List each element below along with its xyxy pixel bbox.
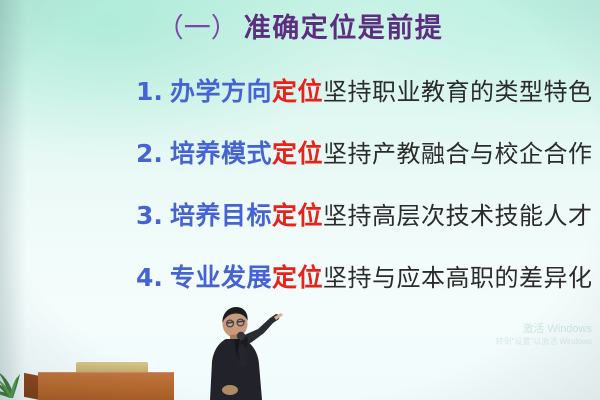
bullet-item-3: 3.培养目标定位坚持高层次技术技能人才 [0, 196, 600, 258]
bullet-number: 2. [136, 139, 170, 168]
bullet-accent-phrase: 定位 [272, 196, 323, 232]
bullet-accent-phrase: 定位 [272, 134, 323, 170]
plant-foliage-svg [0, 352, 46, 400]
slide-title-text: 准确定位是前提 [244, 13, 444, 44]
bullet-key-phrase: 专业发展 [170, 258, 272, 294]
slide-title: （一）准确定位是前提 [0, 6, 600, 45]
bullet-key-phrase: 培养目标 [170, 196, 272, 232]
bullet-accent-phrase: 定位 [272, 72, 323, 108]
presenter-figure [196, 306, 306, 400]
projected-slide-photo: （一）准确定位是前提 1.办学方向定位坚持职业教育的类型特色 2.培养模式定位坚… [0, 0, 600, 400]
slide-bullet-list: 1.办学方向定位坚持职业教育的类型特色 2.培养模式定位坚持产教融合与校企合作 … [0, 72, 600, 320]
microphone-head [237, 332, 245, 340]
presenter-pointing-arm [242, 314, 280, 346]
bullet-number: 3. [136, 201, 170, 230]
bullet-body-text: 坚持与应本高职的差异化 [323, 258, 593, 293]
watermark-title: 激活 Windows [496, 322, 592, 336]
bullet-item-1: 1.办学方向定位坚持职业教育的类型特色 [0, 72, 600, 134]
presenter-silhouette-svg [196, 306, 306, 400]
bullet-body-text: 坚持职业教育的类型特色 [323, 72, 593, 107]
wooden-podium [24, 362, 174, 400]
bullet-key-phrase: 办学方向 [170, 72, 272, 108]
bullet-body-text: 坚持产教融合与校企合作 [323, 134, 593, 169]
bullet-number: 4. [136, 263, 170, 292]
bullet-accent-phrase: 定位 [272, 258, 323, 294]
watermark-subtitle: 转到"设置"以激活 Windows [496, 336, 592, 347]
windows-activation-watermark: 激活 Windows 转到"设置"以激活 Windows [496, 322, 592, 347]
slide-title-enumerator: （一） [157, 13, 238, 44]
bullet-body-text: 坚持高层次技术技能人才 [323, 196, 593, 231]
podium-front-panel [38, 372, 174, 400]
presenter-hand-at-waist [222, 385, 238, 395]
bullet-number: 1. [136, 77, 170, 106]
bullet-item-2: 2.培养模式定位坚持产教融合与校企合作 [0, 134, 600, 196]
bullet-key-phrase: 培养模式 [170, 134, 272, 170]
potted-plant [0, 352, 46, 400]
